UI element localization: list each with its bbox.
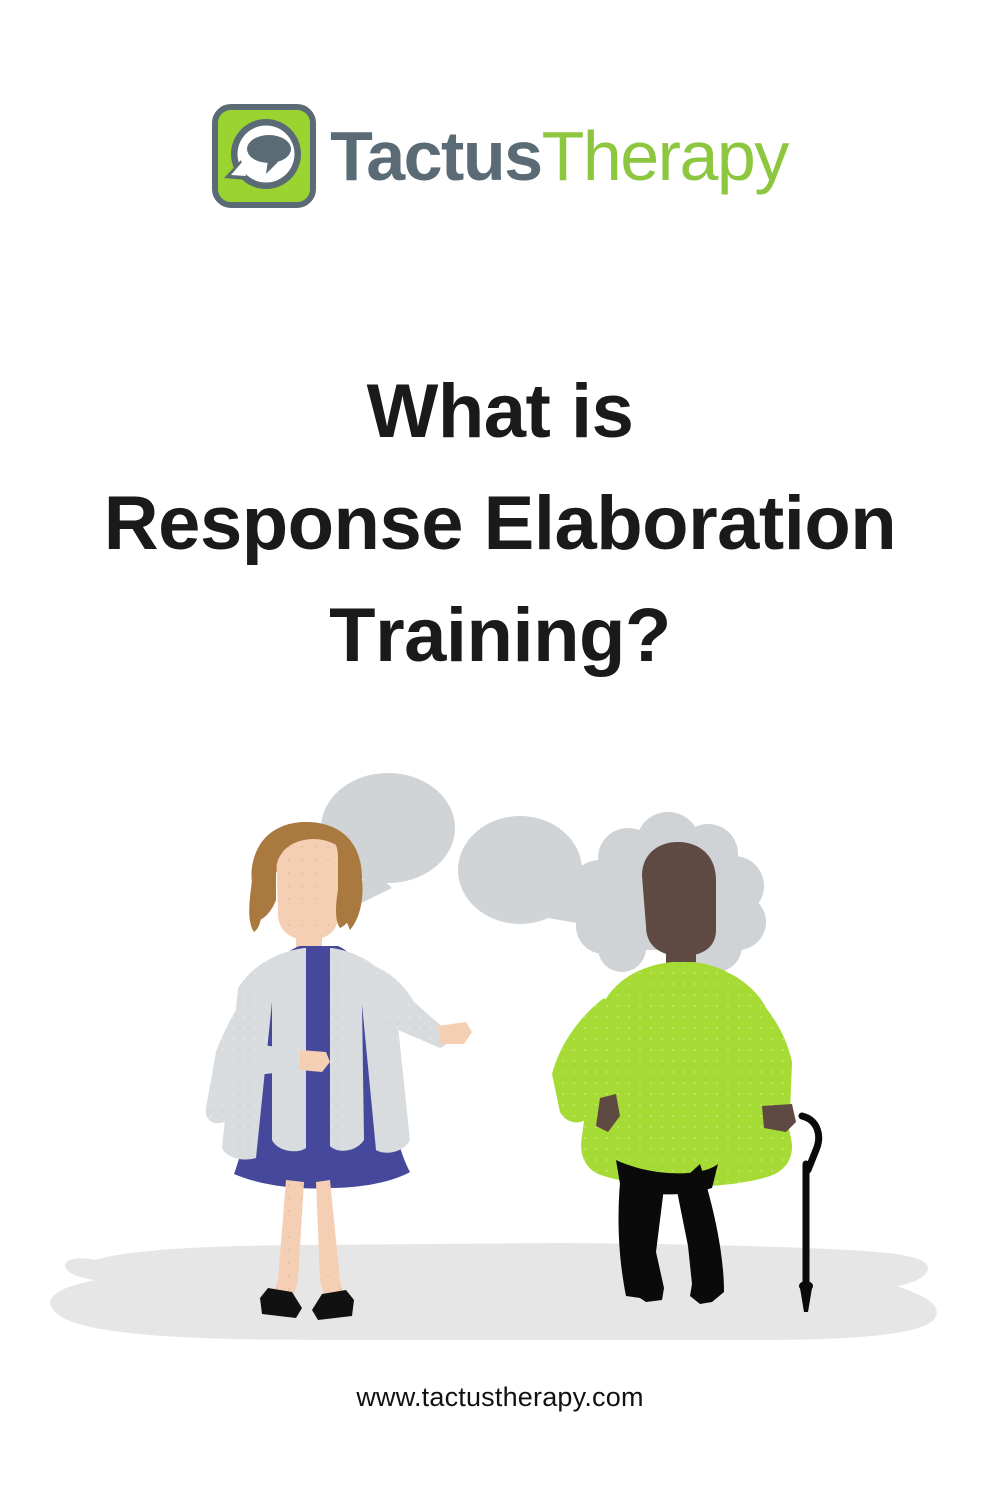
title-emph-t: T — [329, 593, 375, 678]
hand-right — [762, 1104, 796, 1132]
title-word-laboration: laboration — [534, 481, 896, 566]
page-title: What is Response Elaboration Training? — [60, 356, 940, 692]
logo-wordmark: TactusTherapy — [330, 121, 788, 191]
title-word-esponse: esponse — [158, 481, 483, 566]
poster-canvas: TactusTherapy What is Response Elaborati… — [0, 0, 1000, 1500]
title-emph-e: E — [484, 481, 534, 566]
website-url[interactable]: www.tactustherapy.com — [356, 1382, 643, 1412]
head — [642, 842, 716, 956]
title-line-1: What is — [60, 356, 940, 468]
title-line-3: Training? — [60, 580, 940, 692]
logo-word-therapy: Therapy — [542, 121, 788, 191]
title-line-2: Response Elaboration — [60, 468, 940, 580]
title-emph-r: R — [104, 481, 158, 566]
footer: www.tactustherapy.com — [0, 1382, 1000, 1413]
logo-word-tactus: Tactus — [330, 121, 541, 191]
clinician-and-client-illustration — [0, 740, 1000, 1360]
cane-ferrule — [799, 1281, 813, 1291]
brand-logo[interactable]: TactusTherapy — [0, 96, 1000, 216]
hand-right — [438, 1022, 472, 1044]
tactus-head-speech-bubble-icon — [212, 104, 316, 208]
title-word-raining: raining? — [375, 593, 671, 678]
illustration-canvas — [0, 740, 1000, 1360]
older-adult-with-cane-figure — [552, 812, 819, 1312]
